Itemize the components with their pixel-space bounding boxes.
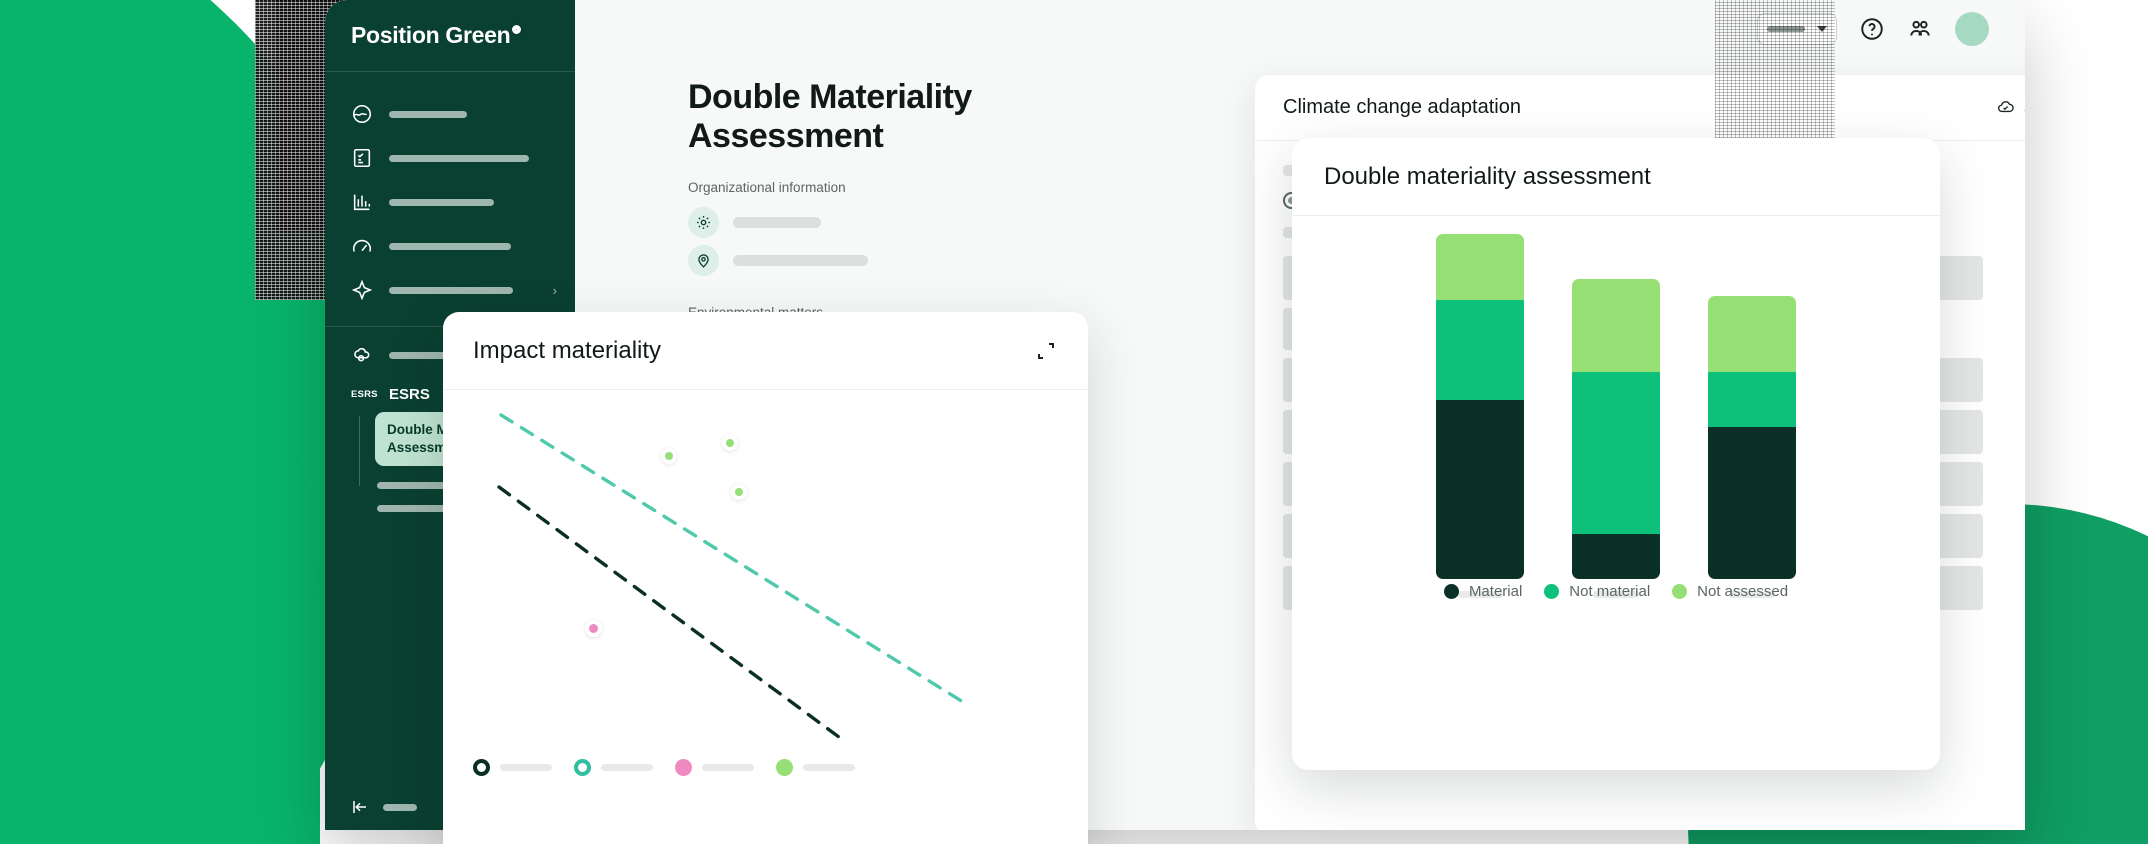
location-pin-icon <box>688 245 719 276</box>
legend-item[interactable]: Not material <box>1544 583 1650 600</box>
expand-icon[interactable] <box>1034 339 1058 363</box>
esrs-label: ESRS <box>389 386 430 403</box>
user-avatar[interactable] <box>1955 12 1989 46</box>
sparkle-icon <box>351 279 373 301</box>
brand-dot-icon <box>512 25 521 34</box>
legend-marker-pink[interactable] <box>675 759 692 776</box>
legend-item[interactable]: Not assessed <box>1672 583 1788 600</box>
bar-column[interactable] <box>1708 296 1796 598</box>
climate-card-header: Climate change adaptation Saved <box>1255 75 2025 141</box>
legend-label: Not assessed <box>1697 583 1788 600</box>
legend-item[interactable]: Material <box>1444 583 1522 600</box>
org-value-skeleton <box>733 255 868 266</box>
impact-card-title: Impact materiality <box>473 337 661 365</box>
brand-logo: Position Green <box>351 22 519 49</box>
bar-segment-material[interactable] <box>1436 400 1524 579</box>
scatter-point <box>661 448 677 464</box>
brand-logo-text: Position Green <box>351 22 510 48</box>
page-title: Double Materiality Assessment <box>688 78 1018 157</box>
help-circle-icon[interactable] <box>1859 16 1885 42</box>
bar-segment-not-material[interactable] <box>1708 372 1796 427</box>
legend-swatch <box>1672 584 1687 599</box>
collapse-label-skeleton <box>383 804 417 811</box>
legend-label: Material <box>1469 583 1522 600</box>
legend-label: Not material <box>1569 583 1650 600</box>
bar-stack <box>1436 234 1524 579</box>
legend-marker-threshold[interactable] <box>574 759 591 776</box>
bar-segment-not-material[interactable] <box>1436 300 1524 400</box>
sidebar-item-label-skeleton <box>389 111 467 118</box>
org-section-label: Organizational information <box>688 180 846 195</box>
bar-segment-material[interactable] <box>1572 534 1660 579</box>
legend-swatch <box>1544 584 1559 599</box>
cloud-check-icon <box>1996 98 2015 117</box>
legend-marker-green[interactable] <box>776 759 793 776</box>
legend-marker-material[interactable] <box>473 759 490 776</box>
bar-group <box>1292 228 1940 598</box>
bar-segment-material[interactable] <box>1708 427 1796 579</box>
saved-label: Saved <box>2024 98 2025 118</box>
screenshot-root: Position Green <box>0 0 2148 844</box>
sidebar-item-label-skeleton <box>389 155 529 162</box>
chart-legend: MaterialNot materialNot assessed <box>1292 583 1940 600</box>
bar-segment-not-assessed[interactable] <box>1436 234 1524 300</box>
collapse-panel-icon[interactable] <box>351 798 369 816</box>
globe-leaf-icon <box>351 103 373 125</box>
scatter-point <box>585 620 602 637</box>
checklist-icon <box>351 147 373 169</box>
bar-segment-not-assessed[interactable] <box>1572 279 1660 372</box>
impact-legend <box>473 759 855 776</box>
scatter-threshold-lines <box>443 390 1088 790</box>
sidebar-item-analytics[interactable] <box>325 180 575 224</box>
bar-stack <box>1708 296 1796 579</box>
legend-label-skeleton <box>803 764 855 771</box>
org-value-skeleton <box>733 217 821 228</box>
saved-status: Saved <box>1996 98 2025 118</box>
org-row-company[interactable] <box>688 207 821 238</box>
sidebar-item-label-skeleton <box>389 287 513 294</box>
chart-card-header: Double materiality assessment <box>1292 138 1940 216</box>
chevron-right-icon[interactable]: › <box>553 283 557 298</box>
double-materiality-chart-card: Double materiality assessment MaterialNo… <box>1292 138 1940 770</box>
gear-icon <box>688 207 719 238</box>
gauge-icon <box>351 235 373 257</box>
sidebar-item-label-skeleton <box>389 243 511 250</box>
legend-swatch <box>1444 584 1459 599</box>
esrs-badge: ESRS <box>351 389 373 400</box>
scatter-point <box>722 435 738 451</box>
legend-label-skeleton <box>702 764 754 771</box>
sidebar-item-label-skeleton <box>389 199 494 206</box>
legend-label-skeleton <box>601 764 653 771</box>
cloud-leaf-icon <box>351 344 373 366</box>
sidebar-item-overview[interactable] <box>325 92 575 136</box>
impact-materiality-card: Impact materiality <box>443 312 1088 844</box>
bar-chart-icon <box>351 191 373 213</box>
bar-segment-not-assessed[interactable] <box>1708 296 1796 372</box>
sidebar-item-performance[interactable] <box>325 224 575 268</box>
climate-card-title: Climate change adaptation <box>1283 96 1521 119</box>
bar-column[interactable] <box>1436 234 1524 598</box>
impact-scatter-plot <box>443 390 1088 790</box>
impact-card-header: Impact materiality <box>443 312 1088 390</box>
legend-label-skeleton <box>500 764 552 771</box>
sidebar-logo-area[interactable]: Position Green <box>325 0 575 72</box>
bar-column[interactable] <box>1572 279 1660 598</box>
scatter-point <box>731 484 747 500</box>
chart-card-title: Double materiality assessment <box>1324 163 1651 191</box>
org-row-location[interactable] <box>688 245 868 276</box>
bar-segment-not-material[interactable] <box>1572 372 1660 534</box>
sidebar-item-tasks[interactable] <box>325 136 575 180</box>
stacked-bar-chart: MaterialNot materialNot assessed <box>1292 216 1940 656</box>
bar-stack <box>1572 279 1660 579</box>
people-icon[interactable] <box>1907 16 1933 42</box>
sidebar-item-insights[interactable]: › <box>325 268 575 312</box>
